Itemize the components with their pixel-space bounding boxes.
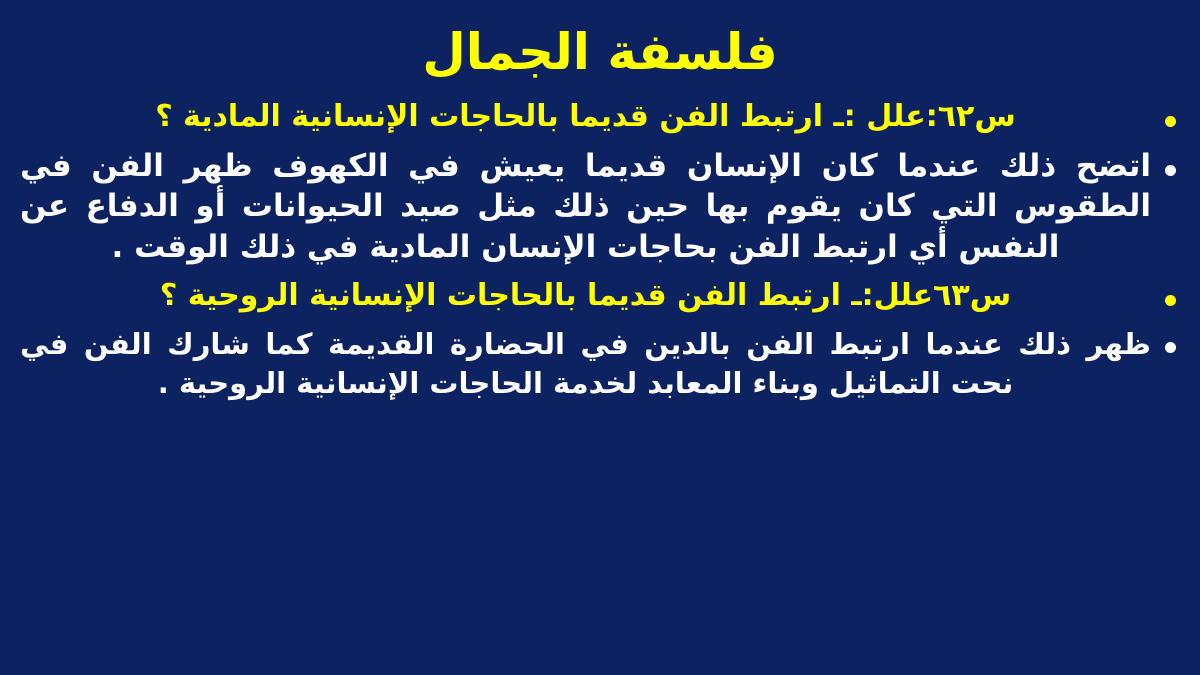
bullet-text-question-62: س٦٢:علل :ـ ارتبط الفن قديما بالحاجات الإ… bbox=[20, 97, 1151, 136]
bullet-item-question-63: س٦٣علل:ـ ارتبط الفن قديما بالحاجات الإنس… bbox=[20, 276, 1178, 315]
slide-body-list: س٦٢:علل :ـ ارتبط الفن قديما بالحاجات الإ… bbox=[0, 79, 1200, 675]
bullet-text-answer-63: ظهر ذلك عندما ارتبط الفن بالدين في الحضا… bbox=[20, 325, 1151, 402]
bullet-item-question-62: س٦٢:علل :ـ ارتبط الفن قديما بالحاجات الإ… bbox=[20, 97, 1178, 136]
bullet-item-answer-63: ظهر ذلك عندما ارتبط الفن بالدين في الحضا… bbox=[20, 325, 1178, 402]
bullet-text-answer-62: اتضح ذلك عندما كان الإنسان قديما يعيش في… bbox=[20, 146, 1151, 269]
bullet-dot-icon bbox=[1165, 342, 1176, 353]
bullet-dot-icon bbox=[1165, 295, 1176, 306]
presentation-slide: فلسفة الجمال س٦٢:علل :ـ ارتبط الفن قديما… bbox=[0, 0, 1200, 675]
bullet-dot-icon bbox=[1165, 165, 1176, 176]
bullet-dot-icon bbox=[1165, 116, 1176, 127]
slide-title: فلسفة الجمال bbox=[0, 0, 1200, 79]
bullet-item-answer-62: اتضح ذلك عندما كان الإنسان قديما يعيش في… bbox=[20, 146, 1178, 269]
bullet-text-question-63: س٦٣علل:ـ ارتبط الفن قديما بالحاجات الإنس… bbox=[20, 276, 1151, 315]
